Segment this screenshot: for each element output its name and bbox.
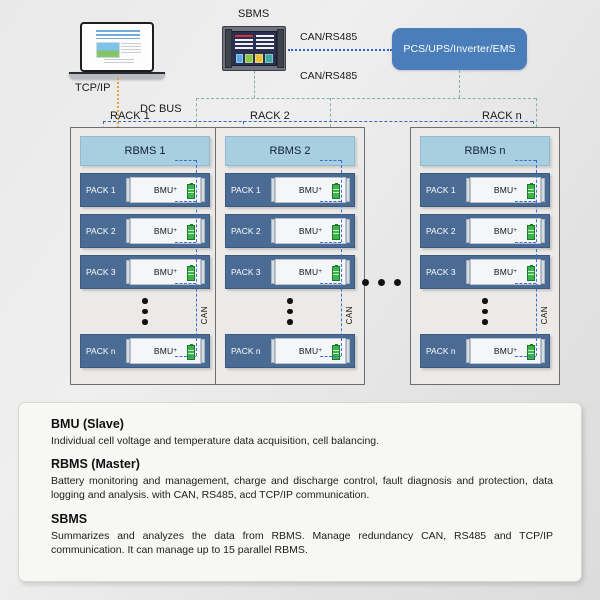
legend-text-rbms: Battery monitoring and management, charg… xyxy=(51,474,553,502)
bmu-sup: + xyxy=(513,187,517,193)
bmu-label: BMU xyxy=(494,185,514,195)
bmu-sup: + xyxy=(173,187,177,193)
bmu-sup: + xyxy=(513,228,517,234)
laptop-screen-text-block-2 xyxy=(104,59,134,65)
pack-label: PACK 2 xyxy=(231,226,271,236)
pack-label: PACK n xyxy=(231,346,271,356)
rack-1-can-stub-rbms xyxy=(175,160,196,161)
rack-continuation-dots xyxy=(362,279,401,286)
battery-icon xyxy=(187,184,195,199)
can-bus-label: CAN xyxy=(345,306,354,324)
laptop-screen-bezel xyxy=(80,22,154,72)
bmu-sup: + xyxy=(318,187,322,193)
sbms-hmi-bar xyxy=(235,39,253,42)
rack-1: RBMS 1 PACK 1 BMU+ PACK 2 BMU+ PACK 3 BM… xyxy=(70,127,220,385)
rs485-bus-line xyxy=(196,98,536,99)
bmu-sup: + xyxy=(173,348,177,354)
can-rs485-mid-label: CAN/RS485 xyxy=(300,70,357,82)
laptop-screen-heading xyxy=(96,30,140,39)
bmu-module: BMU+ xyxy=(130,259,201,285)
sbms-hmi-bar-column-left xyxy=(235,35,253,50)
bmu-sup: + xyxy=(318,228,322,234)
bmu-rail-right xyxy=(541,178,545,202)
legend-panel: BMU (Slave) Individual cell voltage and … xyxy=(18,402,582,582)
rack-n-label: RACK n xyxy=(482,110,522,122)
bmu-label: BMU xyxy=(494,346,514,356)
bmu-label: BMU xyxy=(154,346,174,356)
pack-label: PACK n xyxy=(426,346,466,356)
can-bus-label: CAN xyxy=(540,306,549,324)
bmu-label: BMU xyxy=(494,226,514,236)
laptop-screen-image xyxy=(96,42,120,58)
sbms-hmi-bar xyxy=(235,43,253,46)
bmu-module: BMU+ xyxy=(130,338,201,364)
pack-label: PACK 3 xyxy=(231,267,271,277)
rack-2-can-bus xyxy=(341,160,342,356)
rack-1-can-stub-pack1 xyxy=(175,201,196,202)
rack-n: RBMS n PACK 1 BMU+ PACK 2 BMU+ PACK 3 BM… xyxy=(410,127,560,385)
grid-icon xyxy=(236,54,244,63)
legend-title-sbms: SBMS xyxy=(51,512,553,526)
pack-row: PACK n BMU+ xyxy=(420,334,550,368)
bmu-module: BMU+ xyxy=(275,259,346,285)
rack-n-can-bus xyxy=(536,160,537,356)
rack-2: RBMS 2 PACK 1 BMU+ PACK 2 BMU+ PACK 3 BM… xyxy=(215,127,365,385)
battery-icon xyxy=(527,184,535,199)
bmu-module: BMU+ xyxy=(130,177,201,203)
battery-icon xyxy=(187,266,195,281)
tcpip-label: TCP/IP xyxy=(75,82,110,94)
bmu-label: BMU xyxy=(299,226,319,236)
pack-label: PACK n xyxy=(86,346,126,356)
pack-label: PACK 1 xyxy=(426,185,466,195)
pack-label: PACK 2 xyxy=(86,226,126,236)
bmu-module: BMU+ xyxy=(275,218,346,244)
bmu-sup: + xyxy=(513,269,517,275)
pack-label: PACK 3 xyxy=(426,267,466,277)
bmu-module: BMU+ xyxy=(275,177,346,203)
bmu-rail-right xyxy=(201,339,205,363)
laptop-screen-text-block xyxy=(121,43,141,55)
rack-n-can-stub-pack1 xyxy=(515,201,536,202)
bmu-rail-right xyxy=(201,260,205,284)
rack-2-can-stub-rbms xyxy=(320,160,341,161)
bmu-module: BMU+ xyxy=(130,218,201,244)
bmu-sup: + xyxy=(173,269,177,275)
rack-n-can-stub-rbms xyxy=(515,160,536,161)
sbms-hmi-bar xyxy=(235,47,253,50)
rack-2-can-stub-pack3 xyxy=(320,283,341,284)
rack-2-can-stub-pack2 xyxy=(320,242,341,243)
bmu-label: BMU xyxy=(494,267,514,277)
bmu-rail-right xyxy=(201,219,205,243)
rack-1-can-stub-pack3 xyxy=(175,283,196,284)
line-pcs-to-rs485-bus xyxy=(459,70,460,98)
rack-2-can-stub-packn xyxy=(320,356,341,357)
bmu-rail-right xyxy=(541,260,545,284)
bmu-module: BMU+ xyxy=(470,259,541,285)
rack-1-can-bus xyxy=(196,160,197,356)
battery-icon xyxy=(332,225,340,240)
rbms-2-header: RBMS 2 xyxy=(225,136,355,166)
rack-n-can-stub-packn xyxy=(515,356,536,357)
bmu-rail-right xyxy=(346,178,350,202)
rbms-1-header: RBMS 1 xyxy=(80,136,210,166)
can-rs485-top-label: CAN/RS485 xyxy=(300,31,357,43)
rack-1-can-stub-packn xyxy=(175,356,196,357)
battery-icon xyxy=(332,184,340,199)
bmu-module: BMU+ xyxy=(470,338,541,364)
bmu-label: BMU xyxy=(154,185,174,195)
pack-continuation-dots xyxy=(420,298,550,325)
bmu-label: BMU xyxy=(299,267,319,277)
bmu-module: BMU+ xyxy=(470,218,541,244)
sbms-hmi-bar-alert xyxy=(235,35,253,38)
rack-1-can-stub-pack2 xyxy=(175,242,196,243)
bmu-label: BMU xyxy=(154,267,174,277)
legend-title-rbms: RBMS (Master) xyxy=(51,457,553,471)
warning-icon xyxy=(255,54,263,63)
bmu-rail-right xyxy=(346,219,350,243)
wrench-icon xyxy=(265,54,273,63)
rack-2-can-stub-pack1 xyxy=(320,201,341,202)
sbms-hmi-bar xyxy=(256,43,274,46)
pcs-ups-inverter-ems-node: PCS/UPS/Inverter/EMS xyxy=(392,28,527,70)
rack-n-can-stub-pack2 xyxy=(515,242,536,243)
laptop-screen-content xyxy=(84,26,150,68)
can-bus-label: CAN xyxy=(200,306,209,324)
pack-label: PACK 3 xyxy=(86,267,126,277)
bmu-sup: + xyxy=(318,269,322,275)
bmu-rail-right xyxy=(541,219,545,243)
rack-n-can-stub-pack3 xyxy=(515,283,536,284)
sbms-hmi-icon-row xyxy=(235,54,274,63)
battery-icon xyxy=(187,345,195,360)
battery-icon xyxy=(187,225,195,240)
rack-1-label: RACK 1 xyxy=(110,110,150,122)
sbms-hmi-bar xyxy=(256,39,274,42)
bmu-rail-right xyxy=(346,339,350,363)
sbms-hmi-bar-column-right xyxy=(256,35,274,50)
laptop-device xyxy=(80,22,165,79)
pack-label: PACK 2 xyxy=(426,226,466,236)
bmu-rail-right xyxy=(346,260,350,284)
sbms-hmi-bar-rows xyxy=(235,35,274,50)
pack-label: PACK 1 xyxy=(86,185,126,195)
bmu-rail-right xyxy=(201,178,205,202)
pack-label: PACK 1 xyxy=(231,185,271,195)
rack-2-label: RACK 2 xyxy=(250,110,290,122)
battery-icon xyxy=(527,266,535,281)
battery-icon xyxy=(527,345,535,360)
bmu-sup: + xyxy=(513,348,517,354)
battery-icon xyxy=(527,225,535,240)
bmu-module: BMU+ xyxy=(275,338,346,364)
battery-icon xyxy=(332,266,340,281)
legend-text-sbms: Summarizes and analyzes the data from RB… xyxy=(51,529,553,557)
rbms-n-header: RBMS n xyxy=(420,136,550,166)
dc-bus-line xyxy=(103,121,533,122)
bmu-sup: + xyxy=(173,228,177,234)
bmu-sup: + xyxy=(318,348,322,354)
legend-text-bmu: Individual cell voltage and temperature … xyxy=(51,434,553,448)
pack-row: PACK n BMU+ xyxy=(225,334,355,368)
legend-title-bmu: BMU (Slave) xyxy=(51,417,553,431)
sbms-hmi-panel xyxy=(222,26,286,71)
battery-icon xyxy=(332,345,340,360)
line-sbms-to-rs485-bus xyxy=(254,71,255,98)
sbms-hmi-bar xyxy=(256,35,274,38)
line-sbms-to-pcs xyxy=(288,49,392,51)
bmu-label: BMU xyxy=(299,346,319,356)
diagram-canvas: SBMS xyxy=(0,0,600,600)
bmu-label: BMU xyxy=(154,226,174,236)
pack-row: PACK n BMU+ xyxy=(80,334,210,368)
pack-continuation-dots xyxy=(225,298,355,325)
sbms-hmi-bar xyxy=(256,47,274,50)
sbms-hmi-screen xyxy=(231,31,277,66)
bmu-module: BMU+ xyxy=(470,177,541,203)
bmu-rail-right xyxy=(541,339,545,363)
battery-icon xyxy=(245,54,253,63)
sbms-device xyxy=(222,26,286,71)
sbms-label: SBMS xyxy=(238,8,269,20)
pack-continuation-dots xyxy=(80,298,210,325)
bmu-label: BMU xyxy=(299,185,319,195)
